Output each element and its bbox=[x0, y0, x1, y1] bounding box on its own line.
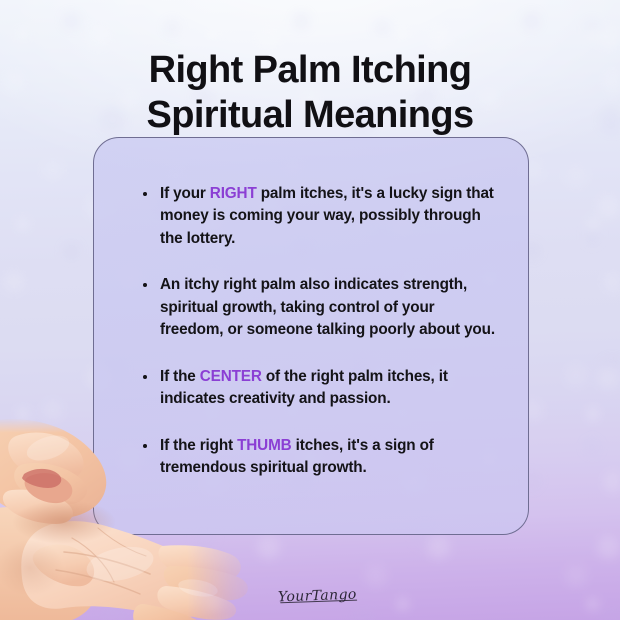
page-title-line-2: Spiritual Meanings bbox=[0, 93, 620, 138]
bullet-right-palm-lottery: If your RIGHT palm itches, it's a lucky … bbox=[160, 183, 500, 250]
highlighted-keyword: RIGHT bbox=[210, 185, 257, 202]
bullet-text-run: An itchy right palm also indicates stren… bbox=[160, 276, 495, 338]
highlighted-keyword: CENTER bbox=[200, 368, 262, 385]
yourtango-watermark: YourTango bbox=[278, 587, 357, 606]
poster-canvas: Right Palm Itching Spiritual Meanings If… bbox=[0, 0, 620, 620]
page-title-line-1: Right Palm Itching bbox=[0, 48, 620, 93]
bullet-text-run: If the bbox=[160, 368, 200, 385]
bullet-center-creativity: If the CENTER of the right palm itches, … bbox=[160, 366, 500, 411]
bullet-text-run: If your bbox=[160, 185, 210, 202]
page-title: Right Palm Itching Spiritual Meanings bbox=[0, 48, 620, 138]
hands-scratching-palm-photo bbox=[0, 418, 262, 620]
bullet-strength-growth: An itchy right palm also indicates stren… bbox=[160, 274, 500, 341]
